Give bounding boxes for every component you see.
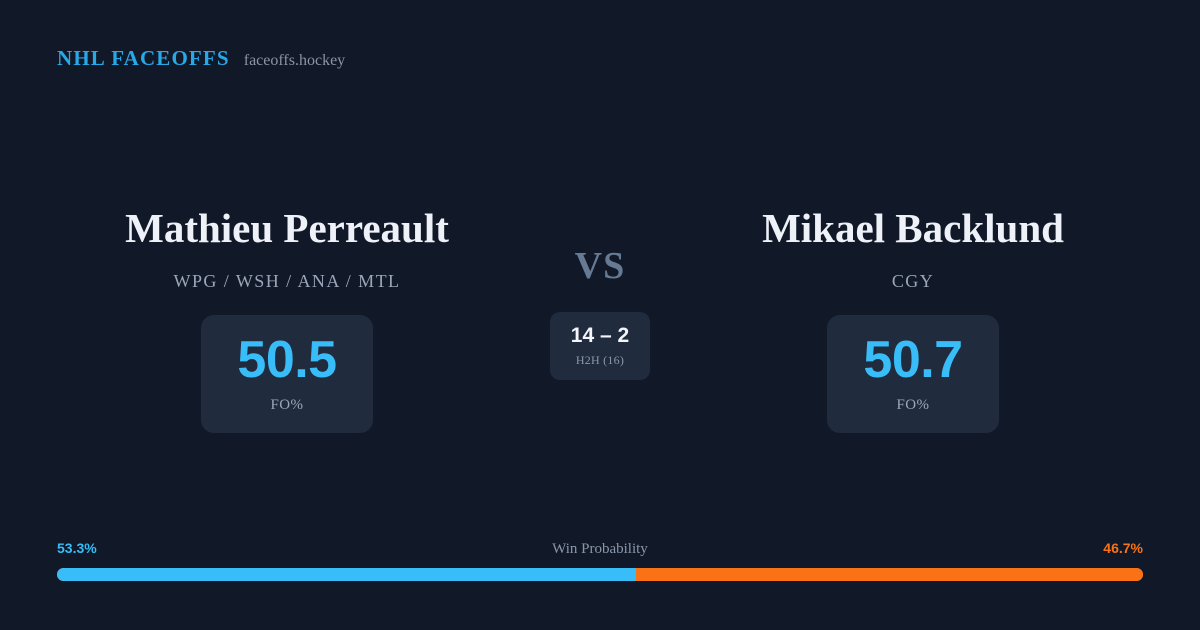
player-right-teams: CGY <box>892 271 934 292</box>
win-probability-title: Win Probability <box>57 541 1143 558</box>
win-probability-section: 53.3% Win Probability 46.7% <box>57 540 1143 585</box>
brand-title: NHL FACEOFFS <box>57 46 230 71</box>
player-right-name: Mikael Backlund <box>762 208 1064 249</box>
site-header: NHL FACEOFFS faceoffs.hockey <box>57 46 345 71</box>
win-probability-bar-left <box>57 568 636 581</box>
win-probability-right-value: 46.7% <box>1103 540 1143 556</box>
matchup-section: Mathieu Perreault WPG / WSH / ANA / MTL … <box>0 190 1200 430</box>
win-probability-labels: 53.3% Win Probability 46.7% <box>57 540 1143 564</box>
win-probability-bar-right <box>636 568 1143 581</box>
player-right: Mikael Backlund CGY 50.7 FO% <box>663 190 1163 433</box>
win-probability-bar <box>57 568 1143 581</box>
versus-label: VS <box>575 247 626 285</box>
matchup-card: NHL FACEOFFS faceoffs.hockey Mathieu Per… <box>0 0 1200 630</box>
player-right-stat-card: 50.7 FO% <box>827 315 999 433</box>
player-left-faceoff-label: FO% <box>270 397 303 414</box>
player-left: Mathieu Perreault WPG / WSH / ANA / MTL … <box>37 190 537 433</box>
player-left-faceoff-pct: 50.5 <box>237 334 336 386</box>
head-to-head-score: 14 – 2 <box>571 325 629 346</box>
brand-domain: faceoffs.hockey <box>244 52 345 70</box>
head-to-head-label: H2H (16) <box>576 353 624 368</box>
player-left-name: Mathieu Perreault <box>125 208 449 249</box>
player-right-faceoff-label: FO% <box>896 397 929 414</box>
player-right-faceoff-pct: 50.7 <box>863 334 962 386</box>
head-to-head-card: 14 – 2 H2H (16) <box>550 312 650 380</box>
player-left-teams: WPG / WSH / ANA / MTL <box>174 271 401 292</box>
player-left-stat-card: 50.5 FO% <box>201 315 373 433</box>
